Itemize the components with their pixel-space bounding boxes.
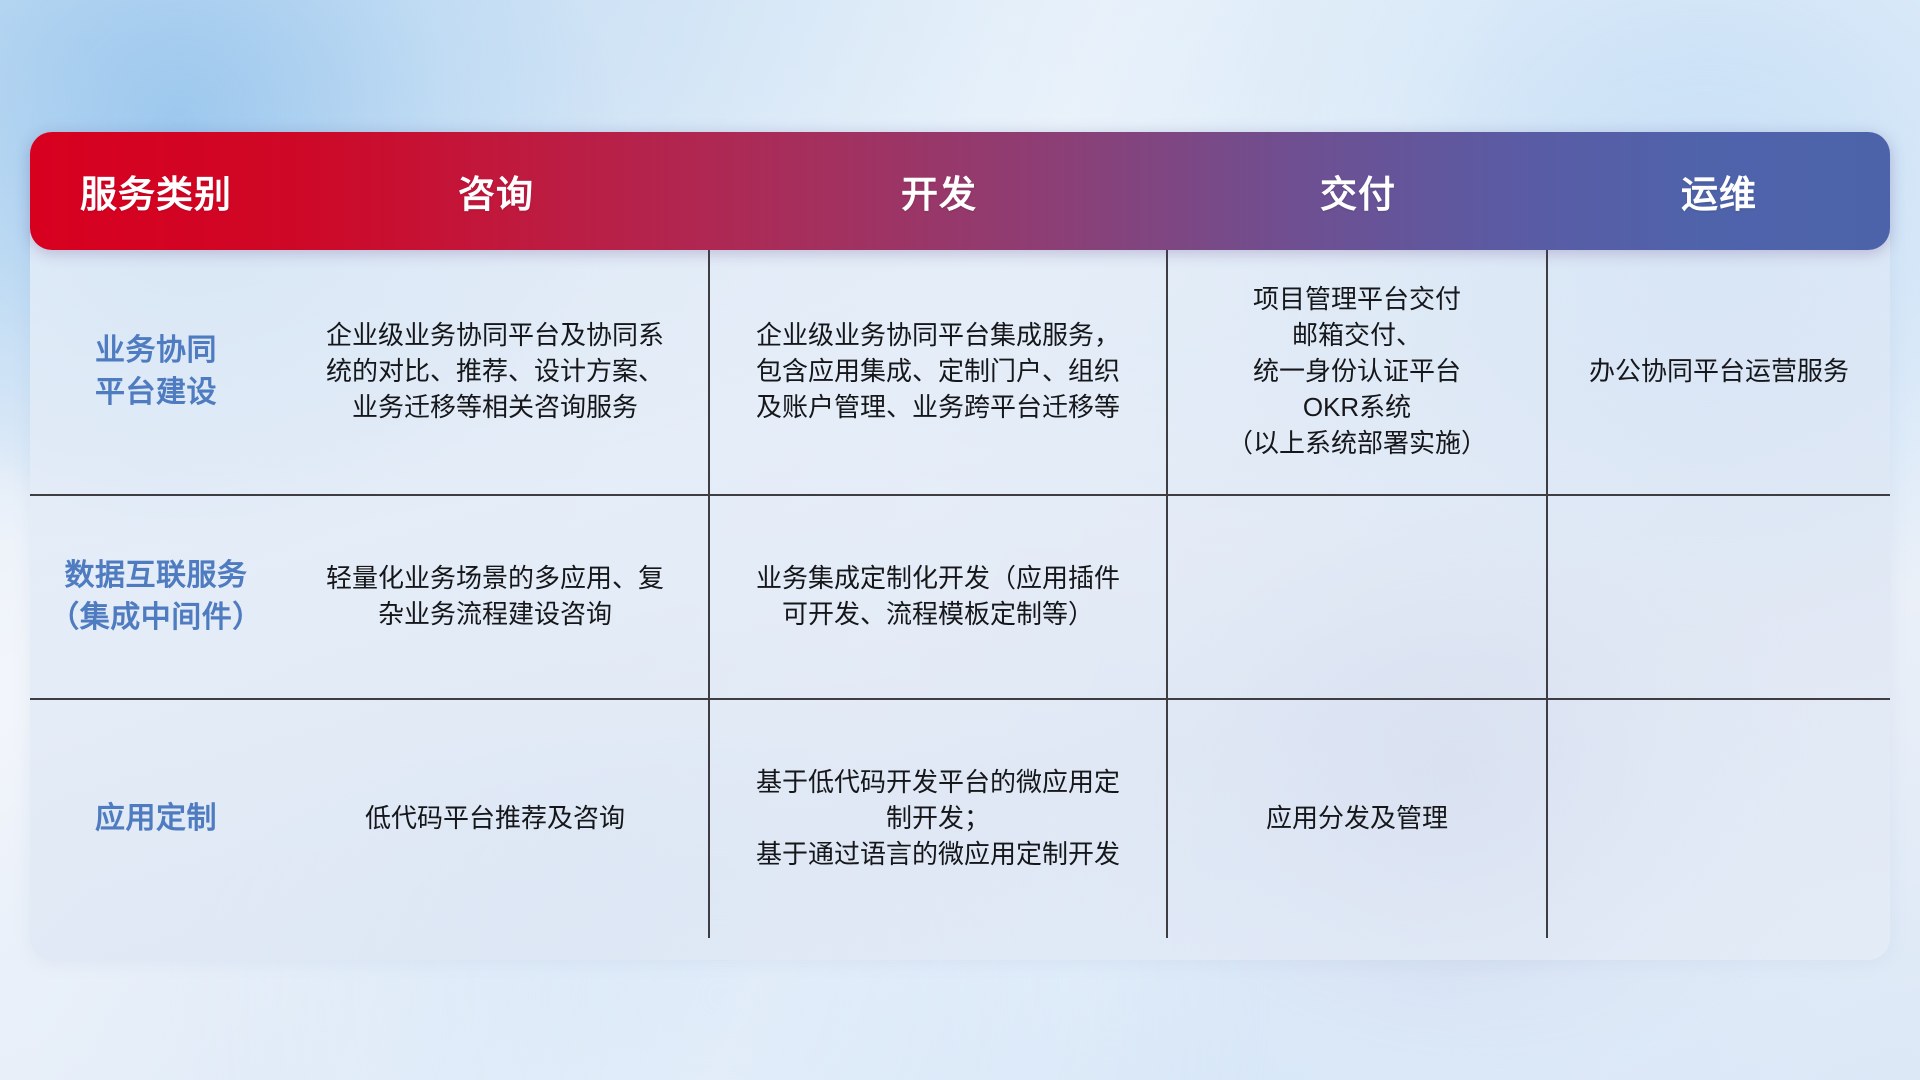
column-header-operations: 运维 — [1548, 132, 1890, 250]
cell-delivery-row2 — [1168, 496, 1548, 698]
cell-operations-row2 — [1548, 496, 1890, 698]
cell-consulting-row2: 轻量化业务场景的多应用、复 杂业务流程建设咨询 — [282, 496, 710, 698]
row-label-business-collaboration: 业务协同 平台建设 — [30, 250, 282, 494]
cell-operations-row1: 办公协同平台运营服务 — [1548, 250, 1890, 494]
cell-development-row1: 企业级业务协同平台集成服务， 包含应用集成、定制门户、组织 及账户管理、业务跨平… — [710, 250, 1168, 494]
table-header-row: 服务类别 咨询 开发 交付 运维 — [30, 132, 1890, 250]
column-header-consulting: 咨询 — [282, 132, 710, 250]
column-header-category: 服务类别 — [30, 132, 282, 250]
cell-operations-row3 — [1548, 700, 1890, 938]
service-matrix-table: 服务类别 咨询 开发 交付 运维 业务协同 平台建设 企业级业务协同平台及协同系… — [30, 132, 1890, 960]
table-row: 数据互联服务 （集成中间件） 轻量化业务场景的多应用、复 杂业务流程建设咨询 业… — [30, 496, 1890, 700]
cell-consulting-row1: 企业级业务协同平台及协同系 统的对比、推荐、设计方案、 业务迁移等相关咨询服务 — [282, 250, 710, 494]
cell-delivery-row1: 项目管理平台交付 邮箱交付、 统一身份认证平台 OKR系统 （以上系统部署实施） — [1168, 250, 1548, 494]
table-row: 应用定制 低代码平台推荐及咨询 基于低代码开发平台的微应用定 制开发； 基于通过… — [30, 700, 1890, 938]
row-label-data-interconnect: 数据互联服务 （集成中间件） — [30, 496, 282, 698]
cell-development-row2: 业务集成定制化开发（应用插件 可开发、流程模板定制等） — [710, 496, 1168, 698]
column-header-development: 开发 — [710, 132, 1168, 250]
table-row: 业务协同 平台建设 企业级业务协同平台及协同系 统的对比、推荐、设计方案、 业务… — [30, 250, 1890, 496]
cell-development-row3: 基于低代码开发平台的微应用定 制开发； 基于通过语言的微应用定制开发 — [710, 700, 1168, 938]
table-body: 业务协同 平台建设 企业级业务协同平台及协同系 统的对比、推荐、设计方案、 业务… — [30, 250, 1890, 960]
cell-delivery-row3: 应用分发及管理 — [1168, 700, 1548, 938]
row-label-app-customization: 应用定制 — [30, 700, 282, 938]
cell-consulting-row3: 低代码平台推荐及咨询 — [282, 700, 710, 938]
column-header-delivery: 交付 — [1168, 132, 1548, 250]
